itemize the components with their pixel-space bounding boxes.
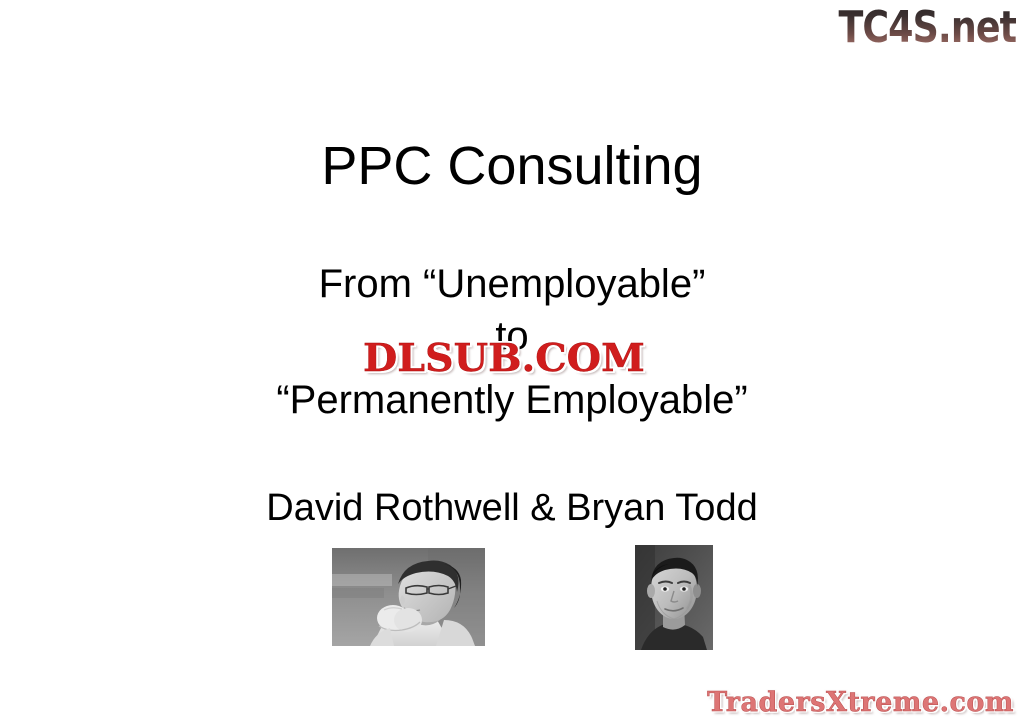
page-title: PPC Consulting xyxy=(0,138,1024,195)
watermark-tc4s: TC4S.net xyxy=(838,2,1016,53)
subtitle-line-permanently-employable: “Permanently Employable” xyxy=(0,378,1024,422)
subtitle-line-to: to xyxy=(0,314,1024,358)
watermark-tradersxtreme: TradersXtreme.com xyxy=(707,687,1014,718)
presentation-slide: PPC Consulting From “Unemployable” to “P… xyxy=(0,0,1024,724)
subtitle-line-from: From “Unemployable” xyxy=(0,262,1024,306)
photo-david-rothwell xyxy=(332,548,485,646)
watermark-tc4s-text: TC4S.net xyxy=(838,2,1016,53)
author-line: David Rothwell & Bryan Todd xyxy=(0,488,1024,530)
photo-bryan-todd xyxy=(635,545,713,650)
